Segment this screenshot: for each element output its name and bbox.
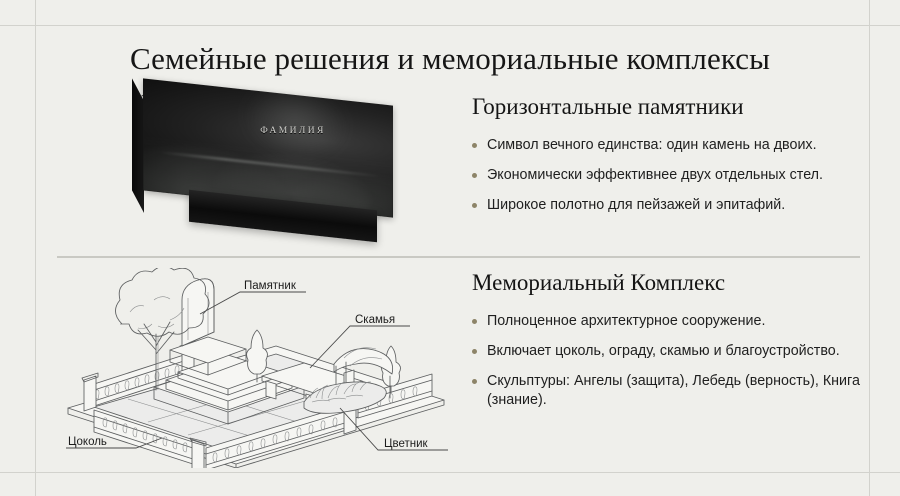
list-item: Широкое полотно для пейзажей и эпитафий.: [470, 196, 870, 215]
list-item: Скульптуры: Ангелы (защита), Лебедь (вер…: [470, 372, 870, 410]
diagram-label-monument: Памятник: [244, 280, 297, 292]
section-heading-horizontal: Горизонтальные памятники: [472, 92, 870, 122]
list-item: Символ вечного единства: один камень на …: [470, 136, 870, 155]
section-memorial-complex: Памятник Скамья Цоколь Цветник Мемориаль…: [0, 268, 900, 473]
bullet-dot-icon: [472, 143, 477, 148]
bullet-dot-icon: [472, 379, 477, 384]
horizontal-monument-visual: ФАМИЛИЯ: [58, 92, 453, 244]
section-heading-memorial: Мемориальный Комплекс: [472, 268, 870, 298]
monument-slab: [143, 78, 393, 217]
list-item: Экономически эффективнее двух отдельных …: [470, 166, 870, 185]
list-item-text: Скульптуры: Ангелы (защита), Лебедь (вер…: [487, 373, 860, 408]
list-item-text: Включает цоколь, ограду, скамью и благоу…: [487, 343, 840, 359]
monument-photo: ФАМИЛИЯ: [143, 92, 443, 244]
list-item-text: Символ вечного единства: один камень на …: [487, 137, 817, 153]
memorial-complex-text: Мемориальный Комплекс Полноценное архите…: [470, 268, 870, 410]
list-item-text: Широкое полотно для пейзажей и эпитафий.: [487, 197, 785, 213]
monument-engraved-surname: ФАМИЛИЯ: [143, 126, 443, 136]
bullet-dot-icon: [472, 203, 477, 208]
bullet-list-memorial: Полноценное архитектурное сооружение. Вк…: [470, 312, 870, 410]
list-item-text: Экономически эффективнее двух отдельных …: [487, 167, 823, 183]
bullet-list-horizontal: Символ вечного единства: один камень на …: [470, 136, 870, 215]
guide-line-top: [0, 25, 900, 26]
section-divider: [57, 256, 860, 258]
list-item: Включает цоколь, ограду, скамью и благоу…: [470, 342, 870, 361]
slide-canvas: Семейные решения и мемориальные комплекс…: [0, 0, 900, 496]
memorial-complex-diagram: Памятник Скамья Цоколь Цветник: [58, 268, 453, 468]
horizontal-monument-text: Горизонтальные памятники Символ вечного …: [470, 92, 870, 215]
page-title: Семейные решения и мемориальные комплекс…: [0, 40, 900, 78]
list-item: Полноценное архитектурное сооружение.: [470, 312, 870, 331]
section-horizontal-monuments: ФАМИЛИЯ Горизонтальные памятники Символ …: [0, 92, 900, 252]
diagram-label-flowerbed: Цветник: [384, 438, 429, 450]
bullet-dot-icon: [472, 349, 477, 354]
list-item-text: Полноценное архитектурное сооружение.: [487, 313, 765, 329]
bullet-dot-icon: [472, 319, 477, 324]
bullet-dot-icon: [472, 173, 477, 178]
diagram-label-plinth: Цоколь: [68, 436, 107, 448]
diagram-label-bench: Скамья: [355, 314, 395, 326]
